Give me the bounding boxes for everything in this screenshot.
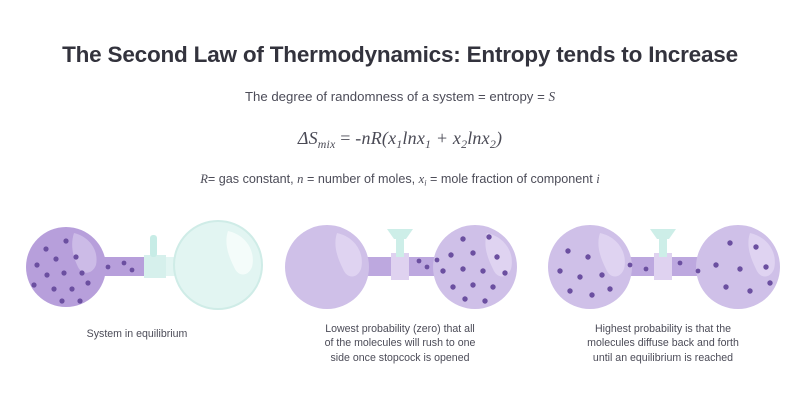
molecule [486, 234, 491, 239]
molecule [490, 284, 495, 289]
caption-line: Lowest probability (zero) that all [275, 322, 525, 336]
molecule [44, 272, 49, 277]
molecule [85, 280, 90, 285]
variable-i: i [596, 172, 600, 186]
molecule [450, 284, 455, 289]
equation-close-paren: ) [496, 128, 502, 148]
entropy-of-mixing-equation: ΔSmix = -nR(x1lnx1 + x2lnx2) [0, 128, 800, 152]
apparatus-highest-probability [530, 213, 796, 318]
caption-line: until an equilibrium is reached [538, 351, 788, 365]
variable-r-text: = gas constant, [208, 172, 297, 186]
stopcock-handle-icon [650, 229, 676, 239]
subtitle-variable-s: S [548, 89, 555, 104]
figure-caption: Highest probability is that the molecule… [538, 322, 788, 365]
molecule [73, 254, 78, 259]
molecule [460, 236, 465, 241]
molecule [106, 265, 111, 270]
stopcock-handle-icon [387, 229, 413, 239]
molecule [417, 259, 422, 264]
page-title: The Second Law of Thermodynamics: Entrop… [0, 42, 800, 68]
stopcock-collar-open [654, 253, 672, 280]
caption-line: Highest probability is that the [538, 322, 788, 336]
molecule [43, 246, 48, 251]
molecule [753, 244, 758, 249]
molecule [723, 284, 728, 289]
equation-subscript-mix: mix [318, 137, 336, 151]
molecule [628, 263, 633, 268]
molecule [448, 252, 453, 257]
variable-n-text: = number of moles, [303, 172, 418, 186]
molecule [599, 272, 604, 277]
molecule [589, 292, 594, 297]
molecule [767, 280, 772, 285]
stopcock-body-closed [144, 255, 166, 278]
equation-coefficient: -nR(x [355, 128, 396, 148]
subtitle: The degree of randomness of a system = e… [0, 89, 800, 105]
molecule [122, 261, 127, 266]
molecule [737, 266, 742, 271]
molecule [470, 250, 475, 255]
equation-equals: = [336, 128, 356, 148]
molecule [482, 298, 487, 303]
molecule [696, 269, 701, 274]
molecule [440, 268, 445, 273]
molecule [727, 240, 732, 245]
stopcock-collar-open [391, 253, 409, 280]
molecule [77, 298, 82, 303]
figure-highest-probability: Highest probability is that the molecule… [530, 213, 796, 418]
molecule [644, 267, 649, 272]
equation-ln-2: lnx [467, 128, 490, 148]
caption-line: System in equilibrium [12, 327, 262, 341]
molecule [565, 248, 570, 253]
molecule [69, 286, 74, 291]
molecule [713, 262, 718, 267]
variable-x-text: = mole fraction of component [427, 172, 597, 186]
molecule [130, 268, 135, 273]
figures-row: System in equilibrium [0, 213, 800, 418]
figure-lowest-probability: Lowest probability (zero) that all of th… [267, 213, 533, 418]
molecule [79, 270, 84, 275]
molecule [435, 258, 440, 263]
molecule [59, 298, 64, 303]
molecule [747, 288, 752, 293]
molecule [678, 261, 683, 266]
molecule [607, 286, 612, 291]
molecule [53, 256, 58, 261]
apparatus-lowest-probability [267, 213, 533, 318]
molecule [425, 265, 430, 270]
caption-line: side once stopcock is opened [275, 351, 525, 365]
figure-caption: Lowest probability (zero) that all of th… [275, 322, 525, 365]
apparatus-equilibrium [4, 213, 270, 318]
stopcock-stem-closed-icon [150, 235, 157, 257]
molecule [460, 266, 465, 271]
figure-caption: System in equilibrium [12, 327, 262, 341]
equation-ln-1: lnx [402, 128, 425, 148]
caption-line: of the molecules will rush to one [275, 336, 525, 350]
molecule [577, 274, 582, 279]
molecule [63, 238, 68, 243]
molecule [494, 254, 499, 259]
molecule [34, 262, 39, 267]
caption-line: molecules diffuse back and forth [538, 336, 788, 350]
molecule [585, 254, 590, 259]
figure-equilibrium: System in equilibrium [4, 213, 270, 418]
equation-plus-term: + x [431, 128, 461, 148]
molecule [567, 288, 572, 293]
infographic-page: The Second Law of Thermodynamics: Entrop… [0, 0, 800, 418]
molecule [51, 286, 56, 291]
equation-delta-s: ΔS [298, 128, 318, 148]
molecule [61, 270, 66, 275]
molecule [470, 282, 475, 287]
molecule [502, 270, 507, 275]
molecule [763, 264, 768, 269]
molecule [462, 296, 467, 301]
molecule [557, 268, 562, 273]
subtitle-text: The degree of randomness of a system = e… [245, 89, 548, 104]
variable-r: R [200, 172, 208, 186]
molecule [480, 268, 485, 273]
molecule [31, 282, 36, 287]
variable-definitions: R= gas constant, n = number of moles, xi… [0, 172, 800, 188]
